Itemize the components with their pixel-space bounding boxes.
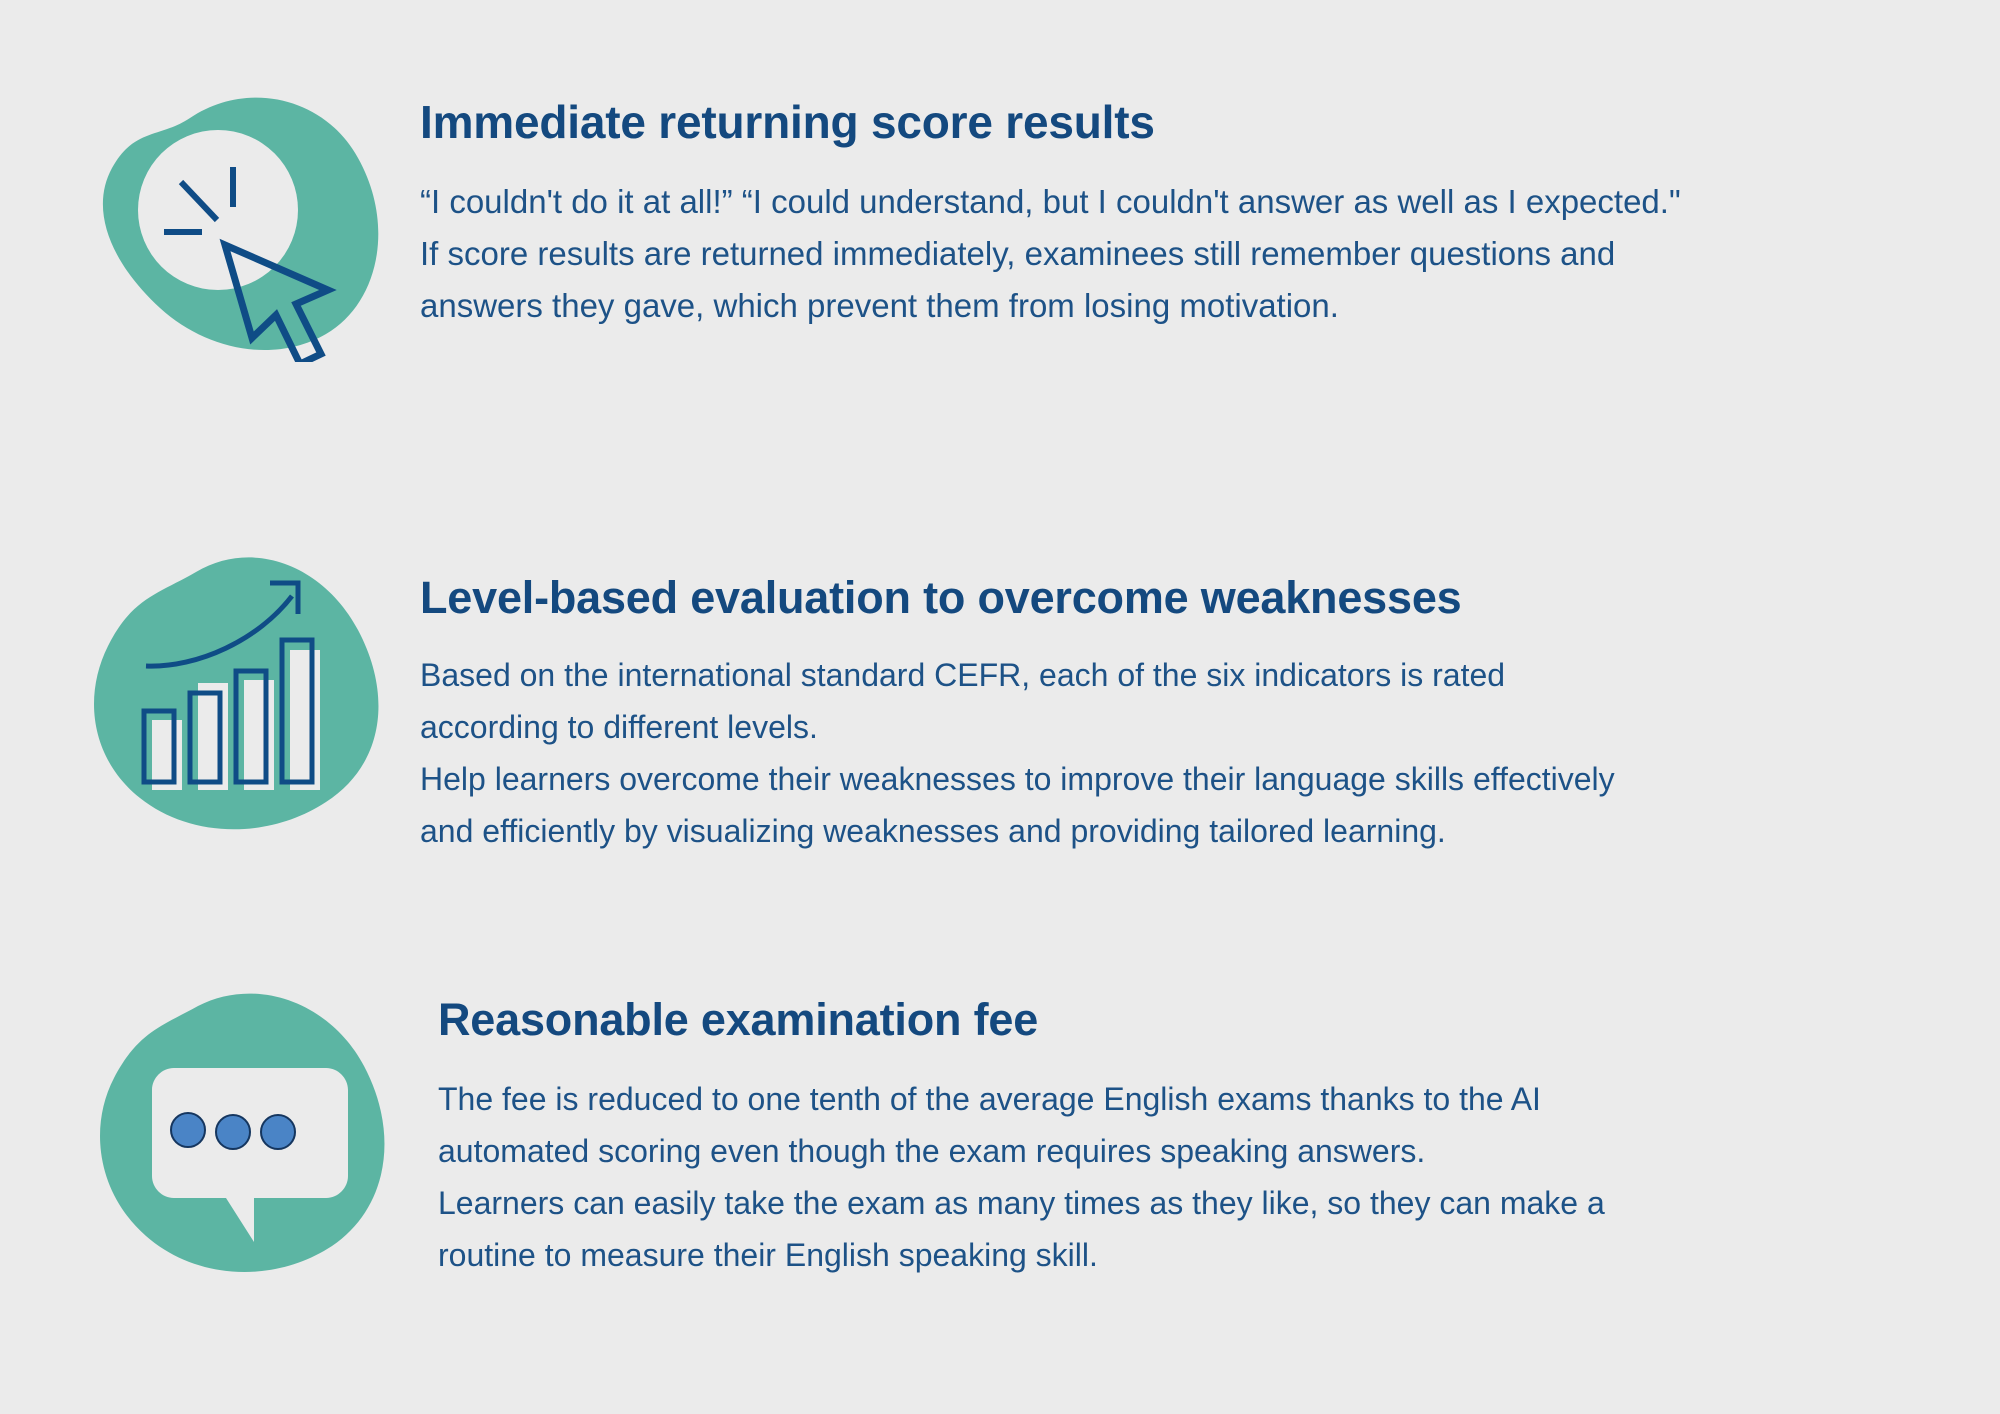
feature-title: Immediate returning score results	[420, 94, 1681, 150]
feature-list-page: Immediate returning score results “I cou…	[0, 0, 2000, 1414]
growth-bar-chart-icon	[78, 540, 398, 840]
feature-text-block: Level-based evaluation to overcome weakn…	[398, 540, 1615, 857]
body-line: routine to measure their English speakin…	[438, 1229, 1605, 1281]
feature-item-reasonable-fee: Reasonable examination fee The fee is re…	[88, 980, 1605, 1281]
feature-text-block: Immediate returning score results “I cou…	[398, 72, 1681, 332]
clock-cursor-icon	[78, 72, 398, 362]
body-line: Learners can easily take the exam as man…	[438, 1177, 1605, 1229]
speech-bubble-icon	[88, 980, 398, 1280]
feature-body: “I couldn't do it at all!” “I could unde…	[420, 176, 1681, 332]
body-line: Based on the international standard CEFR…	[420, 649, 1615, 701]
body-line: The fee is reduced to one tenth of the a…	[438, 1073, 1605, 1125]
feature-body: Based on the international standard CEFR…	[420, 649, 1615, 857]
body-line: If score results are returned immediatel…	[420, 228, 1681, 280]
feature-item-immediate-score: Immediate returning score results “I cou…	[78, 72, 1681, 362]
feature-body: The fee is reduced to one tenth of the a…	[438, 1073, 1605, 1281]
feature-item-level-evaluation: Level-based evaluation to overcome weakn…	[78, 540, 1615, 857]
feature-title: Reasonable examination fee	[438, 992, 1605, 1047]
body-line: “I couldn't do it at all!” “I could unde…	[420, 176, 1681, 228]
body-line: according to different levels.	[420, 701, 1615, 753]
body-line: Help learners overcome their weaknesses …	[420, 753, 1615, 805]
body-line: and efficiently by visualizing weaknesse…	[420, 805, 1615, 857]
feature-text-block: Reasonable examination fee The fee is re…	[398, 980, 1605, 1281]
body-line: automated scoring even though the exam r…	[438, 1125, 1605, 1177]
feature-title: Level-based evaluation to overcome weakn…	[420, 570, 1615, 625]
body-line: answers they gave, which prevent them fr…	[420, 280, 1681, 332]
